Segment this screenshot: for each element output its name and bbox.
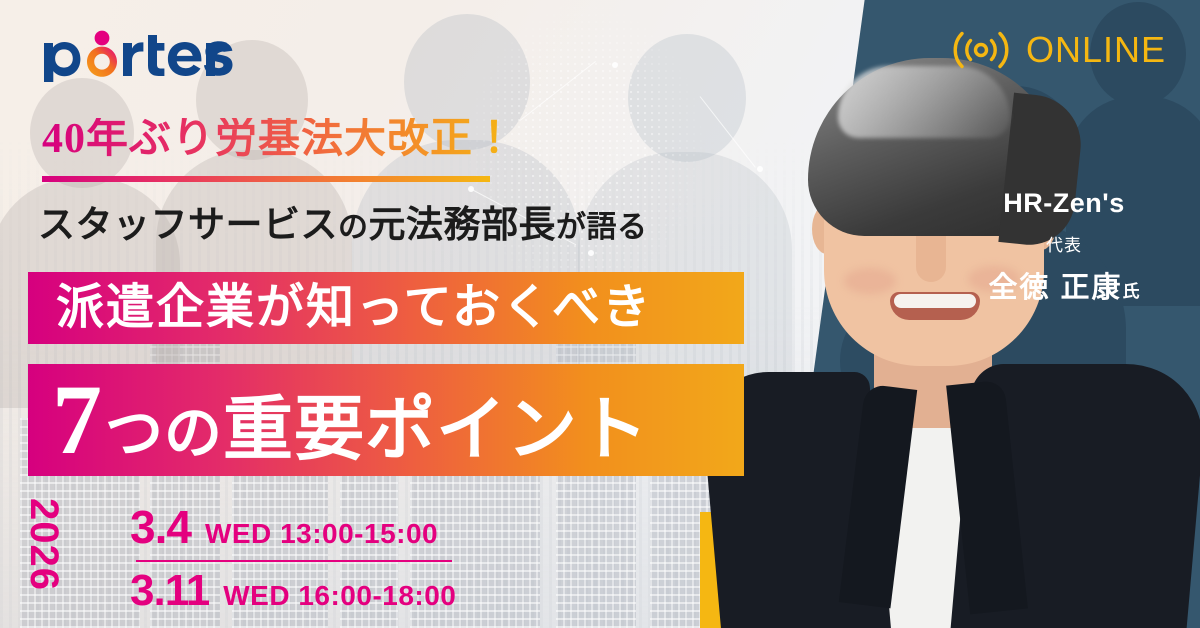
network-node — [468, 186, 474, 192]
speaker-name: 全徳 正康氏 — [964, 264, 1164, 306]
point-label-main: 重要 — [223, 396, 365, 466]
session-1-weekday: WED — [205, 518, 272, 549]
schedule-row: 3.4 WED 13:00-15:00 — [130, 500, 530, 554]
point-count-counter: つ — [105, 405, 164, 463]
title-band-primary: 派遣企業が知っておくべき — [28, 272, 744, 344]
yellow-accent-block — [700, 512, 740, 628]
speaker-honorific: 氏 — [1123, 282, 1140, 301]
session-2-time: 16:00-18:00 — [298, 580, 456, 611]
point-label-tail: ポイント — [365, 396, 649, 466]
speaker-info: HR-Zen's 代表 全徳 正康氏 — [964, 188, 1164, 306]
speaker-company: HR-Zen's — [964, 188, 1164, 219]
subtitle-part-role: 元法務部長 — [369, 204, 557, 245]
subtitle-part-company: スタッフサービス — [38, 204, 338, 245]
porters-logo[interactable] — [40, 30, 246, 82]
speaker-name-text: 全徳 正康 — [988, 272, 1122, 304]
eyebrow-headline: 40年ぶり労基法大改正！ — [42, 118, 516, 160]
title-band-primary-text: 派遣企業が知っておくべき — [28, 284, 652, 332]
subtitle-headline: スタッフサービスの元法務部長が語る — [38, 200, 648, 250]
subtitle-part-tail: が語る — [556, 211, 648, 244]
session-2-date: 3.11 — [130, 566, 209, 616]
point-count-number: 7 — [52, 375, 103, 465]
session-1-time: 13:00-15:00 — [280, 518, 438, 549]
online-label: ONLINE — [1026, 29, 1166, 71]
title-band-secondary-text: 7つの重要ポイント — [28, 375, 649, 466]
network-node — [757, 166, 763, 172]
session-1-weekday-time: WED 13:00-15:00 — [205, 518, 438, 550]
person-body-arc — [87, 47, 117, 77]
title-band-secondary: 7つの重要ポイント — [28, 364, 744, 476]
broadcast-signal-icon — [950, 28, 1012, 72]
point-count-no: の — [164, 405, 223, 463]
porters-logo-mark — [40, 29, 246, 83]
webinar-banner: 40年ぶり労基法大改正！ スタッフサービスの元法務部長が語る 派遣企業が知ってお… — [0, 0, 1200, 628]
session-2-weekday: WED — [223, 580, 290, 611]
schedule-row: 3.11 WED 16:00-18:00 — [130, 566, 530, 616]
network-node — [612, 62, 618, 68]
schedule-divider — [136, 560, 452, 562]
network-node — [588, 250, 594, 256]
headline-underline — [42, 176, 490, 182]
session-1-date: 3.4 — [130, 500, 191, 554]
person-head-dot — [95, 31, 110, 46]
subtitle-part-no: の — [338, 211, 369, 244]
panel-person-silhouette — [840, 300, 950, 422]
schedule-year: 2026 — [21, 498, 66, 591]
online-badge: ONLINE — [950, 28, 1166, 72]
schedule-list: 3.4 WED 13:00-15:00 3.11 WED 16:00-18:00 — [130, 500, 530, 616]
speaker-role: 代表 — [964, 231, 1164, 256]
session-2-weekday-time: WED 16:00-18:00 — [223, 580, 456, 612]
